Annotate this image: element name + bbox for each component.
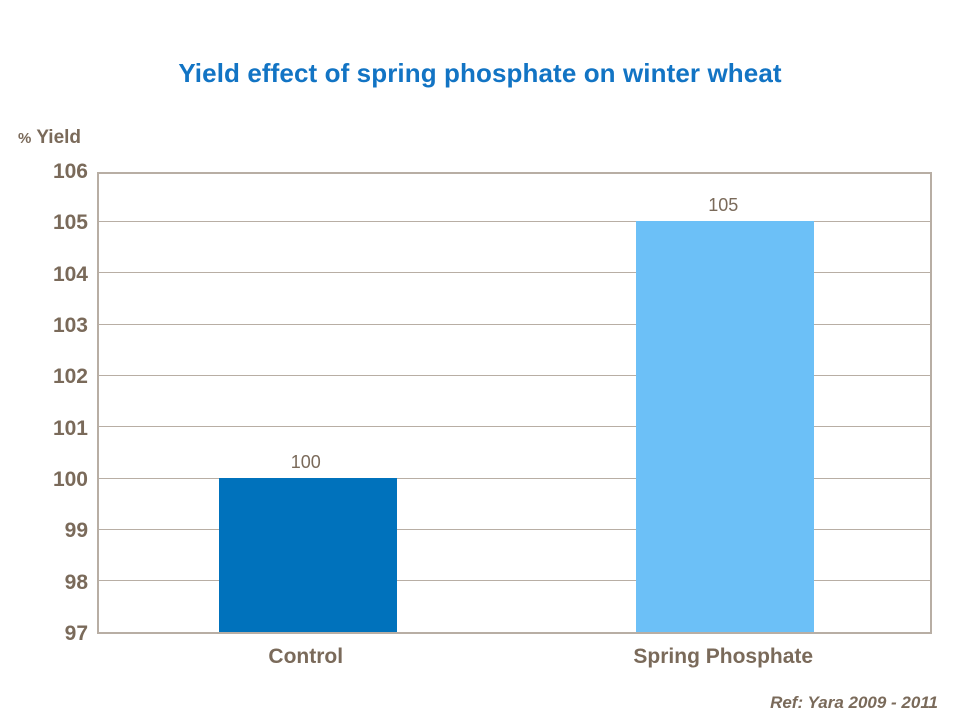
y-axis-tick-label: 105 xyxy=(8,211,88,235)
y-axis-tick-label: 98 xyxy=(8,571,88,595)
y-axis-title-symbol: % xyxy=(18,130,31,147)
y-axis-title: %Yield xyxy=(18,127,81,149)
bar-spring-phosphate[interactable] xyxy=(636,221,814,632)
bar-control[interactable] xyxy=(219,478,397,632)
y-axis-tick-label: 104 xyxy=(8,263,88,287)
y-axis-tick-label: 106 xyxy=(8,160,88,184)
plot-area xyxy=(97,172,932,634)
y-axis-tick-label: 102 xyxy=(8,365,88,389)
y-axis-tick-label: 101 xyxy=(8,417,88,441)
y-axis-tick-label: 103 xyxy=(8,314,88,338)
bar-value-label: 100 xyxy=(291,452,321,473)
y-axis-tick-label: 100 xyxy=(8,468,88,492)
x-axis-tick-label: Spring Phosphate xyxy=(633,645,813,669)
y-axis-tick-labels: 106105104103102101100999897 xyxy=(0,172,88,634)
y-axis-title-word: Yield xyxy=(36,127,81,148)
bar-value-label: 105 xyxy=(708,195,738,216)
chart-title: Yield effect of spring phosphate on wint… xyxy=(0,58,960,89)
x-axis-tick-label: Control xyxy=(268,645,343,669)
chart-container: Yield effect of spring phosphate on wint… xyxy=(0,0,960,720)
source-footnote: Ref: Yara 2009 - 2011 xyxy=(770,693,938,713)
y-axis-tick-label: 97 xyxy=(8,622,88,646)
y-axis-tick-label: 99 xyxy=(8,519,88,543)
